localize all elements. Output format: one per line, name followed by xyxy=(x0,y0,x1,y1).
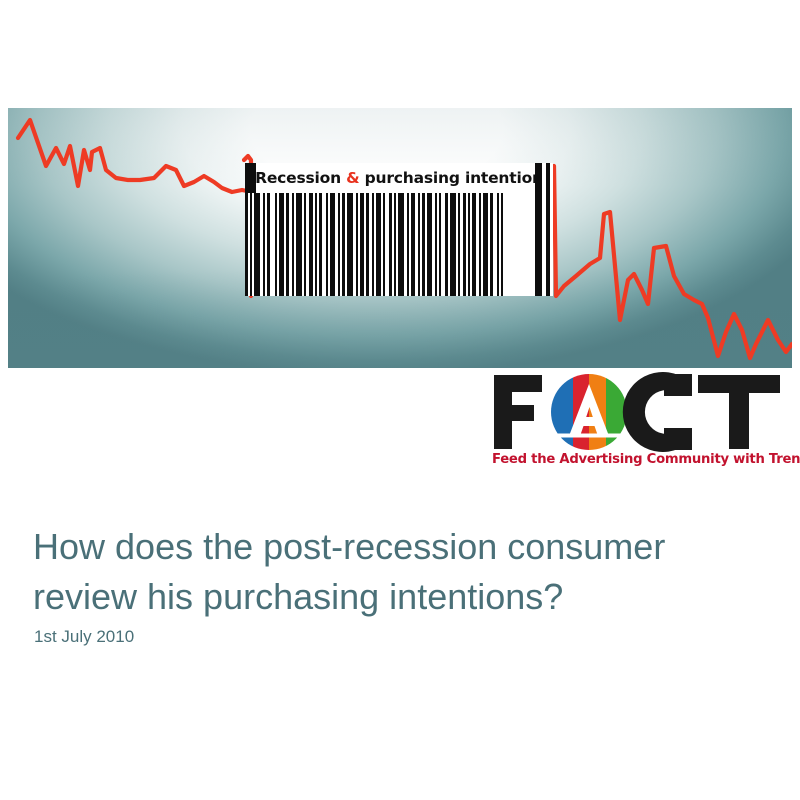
barcode-title-text: Recession & purchasing intention xyxy=(245,163,553,193)
page-title-line-1: How does the post-recession consumer xyxy=(33,522,753,572)
logo-letter-t-icon xyxy=(698,375,780,449)
barcode-graphic: Recession & purchasing intention xyxy=(245,163,553,296)
hero-banner-image: Recession & purchasing intention xyxy=(8,108,792,368)
barcode-title-before: Recession xyxy=(255,169,346,187)
barcode-title-after: purchasing intention xyxy=(359,169,542,187)
fact-wordmark-icon xyxy=(492,372,784,452)
barcode-title-ampersand: & xyxy=(346,169,359,187)
trend-line-right xyxy=(554,166,792,358)
presentation-date: 1st July 2010 xyxy=(34,627,134,647)
logo-letter-f-icon xyxy=(494,375,542,449)
page-title: How does the post-recession consumer rev… xyxy=(33,522,753,622)
trend-line-left xyxy=(18,120,268,192)
title-slide: Recession & purchasing intention xyxy=(0,0,800,800)
logo-letter-a-icon xyxy=(551,374,628,450)
page-title-line-2: review his purchasing intentions? xyxy=(33,572,753,622)
barcode-bars xyxy=(245,193,553,296)
fact-logo: Feed the Advertising Community with Tren… xyxy=(492,372,784,476)
logo-tagline: Feed the Advertising Community with Tren… xyxy=(492,452,784,467)
logo-letter-c-icon xyxy=(623,372,692,452)
